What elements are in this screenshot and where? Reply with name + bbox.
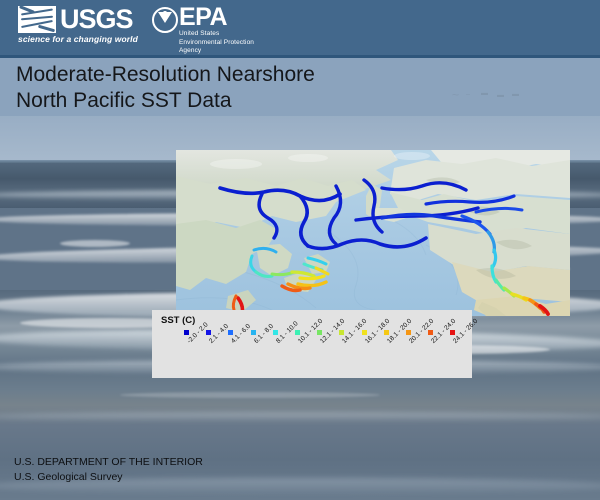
legend-swatch <box>428 330 433 335</box>
sst-map <box>176 150 570 316</box>
epa-logo: EPA United States Environmental Protecti… <box>152 5 254 55</box>
legend-title: SST (C) <box>161 315 195 326</box>
legend-swatch <box>406 330 411 335</box>
legend-labels: -2.0 - 2.02.1 - 4.04.1 - 6.06.1 - 8.08.1… <box>152 340 472 380</box>
usgs-logo: USGS science for a changing world <box>18 6 138 48</box>
sst-legend: SST (C) -2.0 - 2.02.1 - 4.04.1 - 6.06.1 … <box>152 310 472 378</box>
legend-swatch <box>251 330 256 335</box>
legend-swatch <box>184 330 189 335</box>
epa-sub-line-3: Agency <box>179 47 254 55</box>
photo-wave-foam <box>0 412 600 421</box>
legend-swatch <box>295 330 300 335</box>
legend-swatch <box>317 330 322 335</box>
photo-foam-speck <box>60 240 130 247</box>
page-title: Moderate-Resolution Nearshore North Paci… <box>16 62 476 114</box>
epa-sub-line-1: United States <box>179 30 254 38</box>
legend-swatch <box>450 330 455 335</box>
legend-swatch <box>384 330 389 335</box>
footer-line-2: U.S. Geological Survey <box>14 470 203 485</box>
page-title-line-1: Moderate-Resolution Nearshore <box>16 62 476 88</box>
usgs-wave-icon <box>18 6 56 33</box>
legend-swatch <box>273 330 278 335</box>
epa-sub-line-2: Environmental Protection <box>179 39 254 47</box>
bird-icon: – <box>466 91 470 98</box>
footer: U.S. DEPARTMENT OF THE INTERIOR U.S. Geo… <box>14 455 203 485</box>
legend-swatch <box>228 330 233 335</box>
page-title-line-2: North Pacific SST Data <box>16 88 476 114</box>
bird-icon: ▬ <box>481 90 488 97</box>
bird-icon: ▬ <box>497 92 504 99</box>
legend-swatch <box>339 330 344 335</box>
legend-swatch <box>362 330 367 335</box>
usgs-wordmark: USGS <box>60 6 133 33</box>
footer-line-1: U.S. DEPARTMENT OF THE INTERIOR <box>14 455 203 470</box>
sst-map-graphic <box>176 150 570 316</box>
presentation-slide: USGS science for a changing world EPA Un… <box>0 0 600 500</box>
epa-seal-icon <box>152 7 178 33</box>
bird-icon: ▬ <box>512 91 519 98</box>
bird-icon: ⁓ <box>452 92 459 99</box>
legend-swatch <box>206 330 211 335</box>
usgs-tagline: science for a changing world <box>18 34 138 44</box>
epa-wordmark: EPA <box>179 5 254 29</box>
photo-foam-speck <box>120 392 380 398</box>
